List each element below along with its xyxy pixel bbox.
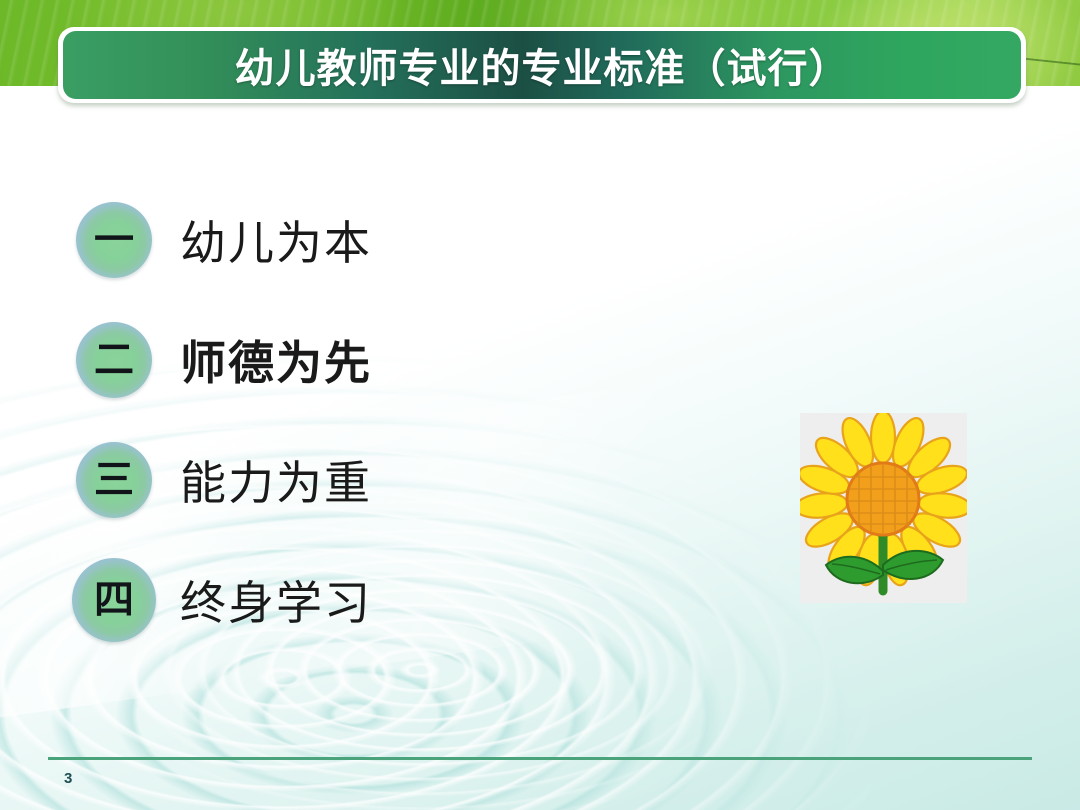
list-item-label: 幼儿为本: [180, 207, 372, 273]
footer-divider: [48, 757, 1032, 760]
number-circle-icon: 一: [76, 202, 152, 278]
page-number: 3: [64, 770, 72, 787]
sunflower-image: [800, 413, 967, 603]
sunflower-icon: [800, 413, 967, 603]
title-banner: 幼儿教师专业的专业标准（试行）: [63, 31, 1021, 99]
list-item[interactable]: 四 终身学习: [70, 540, 690, 660]
list-item-label: 能力为重: [180, 447, 372, 513]
list-item-number: 二: [94, 340, 134, 380]
list-item-label: 终身学习: [180, 567, 372, 633]
list-item[interactable]: 三 能力为重: [70, 420, 690, 540]
number-badge: 三: [70, 442, 158, 518]
list-item-number: 三: [94, 460, 134, 500]
slide-canvas: 幼儿教师专业的专业标准（试行） 一 幼儿为本 二 师德为先 三: [0, 0, 1080, 810]
number-badge: 二: [70, 322, 158, 398]
outline-list: 一 幼儿为本 二 师德为先 三 能力为重 四: [70, 180, 690, 660]
list-item-number: 一: [94, 220, 134, 260]
number-badge: 四: [70, 562, 158, 638]
list-item[interactable]: 一 幼儿为本: [70, 180, 690, 300]
number-circle-icon: 二: [76, 322, 152, 398]
page-title: 幼儿教师专业的专业标准（试行）: [235, 36, 850, 94]
list-item-number: 四: [94, 580, 134, 620]
number-badge: 一: [70, 202, 158, 278]
list-item-label: 师德为先: [180, 327, 372, 393]
number-circle-icon: 三: [76, 442, 152, 518]
list-item[interactable]: 二 师德为先: [70, 300, 690, 420]
number-circle-icon: 四: [72, 558, 156, 642]
